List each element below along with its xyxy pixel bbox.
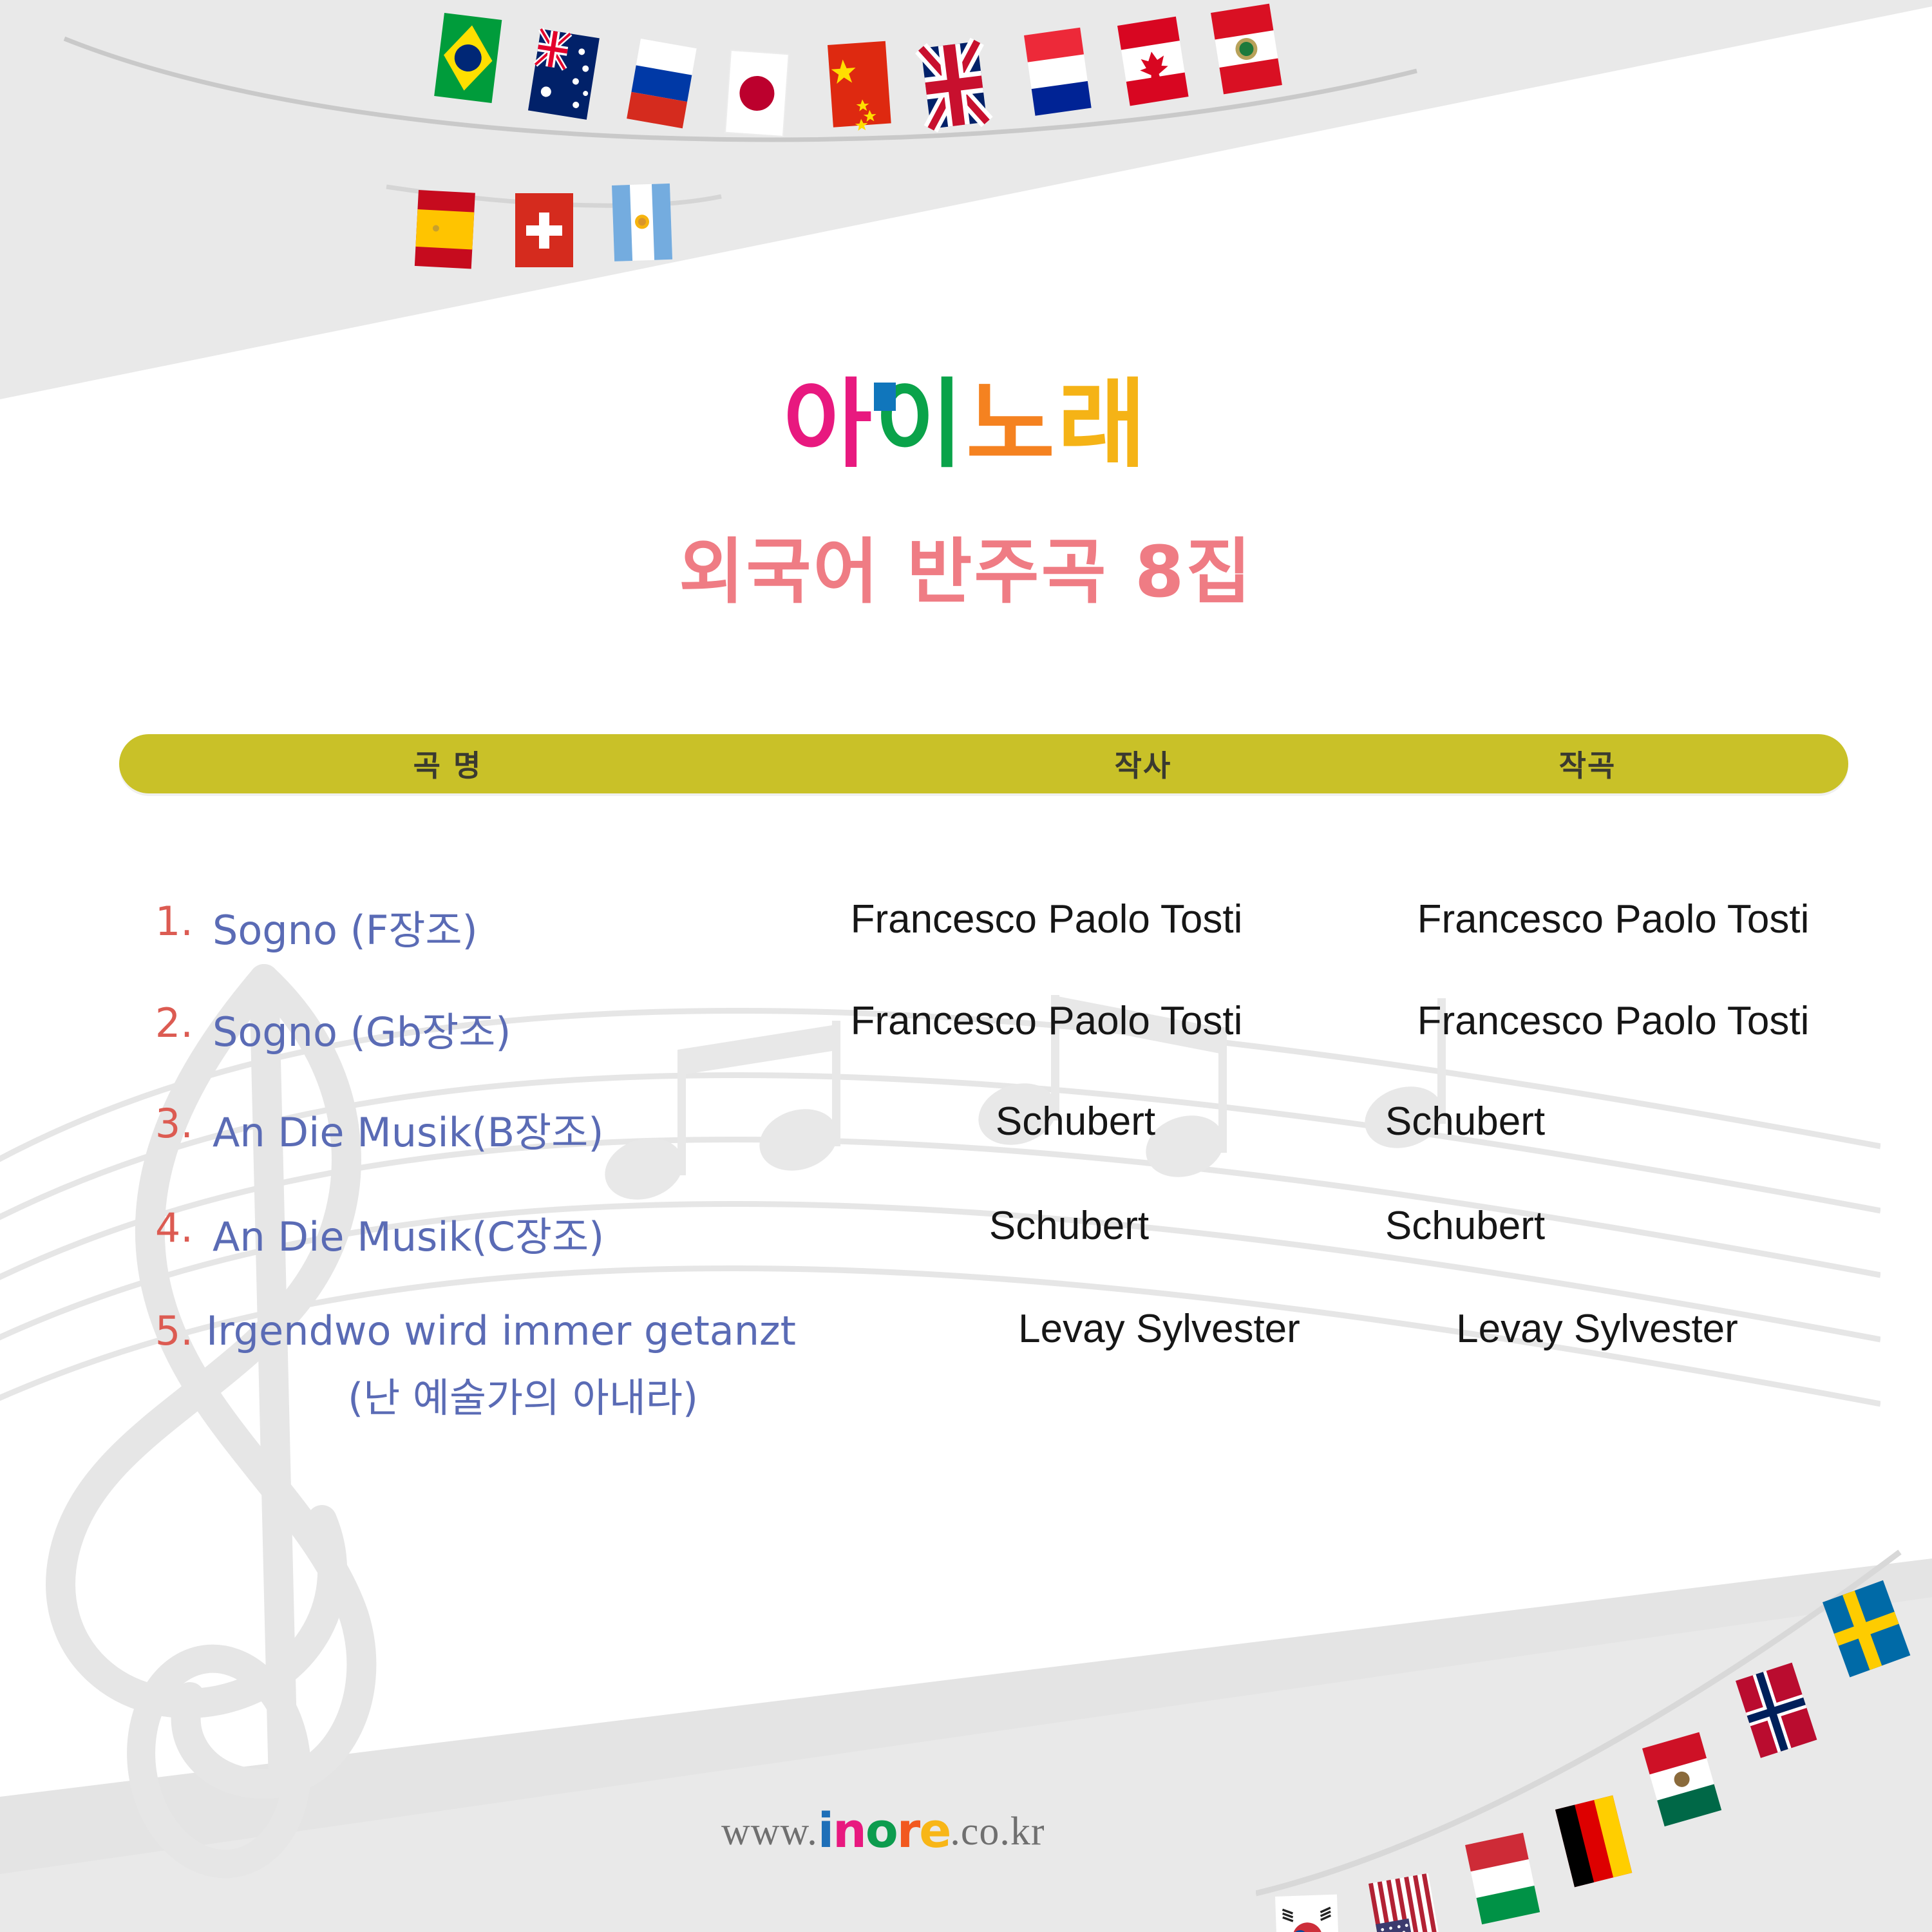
south-korea-flag — [1275, 1895, 1340, 1932]
track-number: 5. — [116, 1307, 193, 1354]
column-header-composer: 작곡 — [1491, 734, 1684, 793]
bottom-bunting — [1256, 1533, 1932, 1932]
footer-brand-letter-e: e — [919, 1803, 950, 1859]
track-title: Sogno (F장조) — [213, 898, 478, 956]
track-number: 3. — [116, 1100, 193, 1147]
switzerland-flag — [515, 193, 573, 267]
italy-flag — [1465, 1833, 1540, 1924]
track-number: 2. — [116, 999, 193, 1046]
brazil-flag — [434, 13, 502, 103]
argentina-flag — [612, 184, 672, 261]
peru-flag — [1211, 4, 1282, 95]
mexico-flag — [1642, 1732, 1721, 1826]
track-title: An Die Musik(C장조) — [213, 1204, 604, 1262]
album-title: 외국어 반주곡 8집 — [0, 531, 1932, 613]
track-composer: Schubert — [1323, 1099, 1607, 1144]
track-title: Sogno (Gb장조) — [213, 999, 511, 1057]
table-header-bar: 곡 명 작사 작곡 — [119, 734, 1848, 793]
website-footer[interactable]: www.inore.co.kr — [721, 1803, 1045, 1859]
norway-flag — [1736, 1663, 1817, 1758]
footer-url-suffix: .co.kr — [950, 1810, 1045, 1853]
canada-flag — [1117, 17, 1189, 106]
usa-flag — [1368, 1873, 1443, 1932]
sweden-flag — [1823, 1580, 1910, 1678]
footer-brand-letter-n: n — [833, 1803, 866, 1859]
track-composer: Schubert — [1323, 1203, 1607, 1249]
track-title: Irgendwo wird immer getanzt — [206, 1307, 796, 1354]
footer-url-prefix: www. — [721, 1810, 818, 1853]
track-subtitle: (난 예술가의 아내라) — [348, 1365, 698, 1423]
poster-canvas: 아이노래 외국어 반주곡 8집 곡 명 작사 작곡 1. Sogno (F장조)… — [0, 0, 1932, 1932]
logo-syllable-4: 래 — [1057, 377, 1149, 473]
russia-flag — [627, 39, 697, 128]
uk-flag — [921, 41, 987, 129]
track-lyricist: Schubert — [934, 1099, 1217, 1144]
column-header-lyricist: 작사 — [1046, 734, 1240, 793]
china-flag — [828, 41, 891, 133]
track-number: 1. — [116, 898, 193, 945]
logo-syllable-3: 노 — [966, 377, 1057, 473]
track-lyricist: Schubert — [927, 1203, 1211, 1249]
track-composer: Levay Sylvester — [1397, 1306, 1797, 1352]
germany-flag — [1555, 1795, 1632, 1888]
track-title: An Die Musik(B장조) — [213, 1100, 603, 1158]
logo-syllable-1: 아 — [783, 377, 875, 473]
track-lyricist: Levay Sylvester — [960, 1306, 1359, 1352]
footer-brand-letter-r: r — [897, 1803, 920, 1859]
logo-accent-dot — [874, 383, 896, 411]
inore-logo: 아이노래 — [0, 377, 1932, 473]
france-flag — [1024, 28, 1092, 116]
top-bunting — [0, 0, 1932, 303]
column-header-song: 곡 명 — [312, 734, 583, 793]
footer-brand-letter-o: o — [866, 1803, 897, 1859]
track-number: 4. — [116, 1204, 193, 1251]
track-lyricist: Francesco Paolo Tosti — [770, 896, 1323, 942]
track-composer: Francesco Paolo Tosti — [1336, 998, 1890, 1044]
spain-flag — [415, 190, 475, 269]
track-composer: Francesco Paolo Tosti — [1336, 896, 1890, 942]
footer-brand-letter-i: i — [818, 1803, 833, 1859]
japan-flag — [725, 50, 789, 137]
track-lyricist: Francesco Paolo Tosti — [770, 998, 1323, 1044]
australia-flag — [528, 29, 600, 120]
